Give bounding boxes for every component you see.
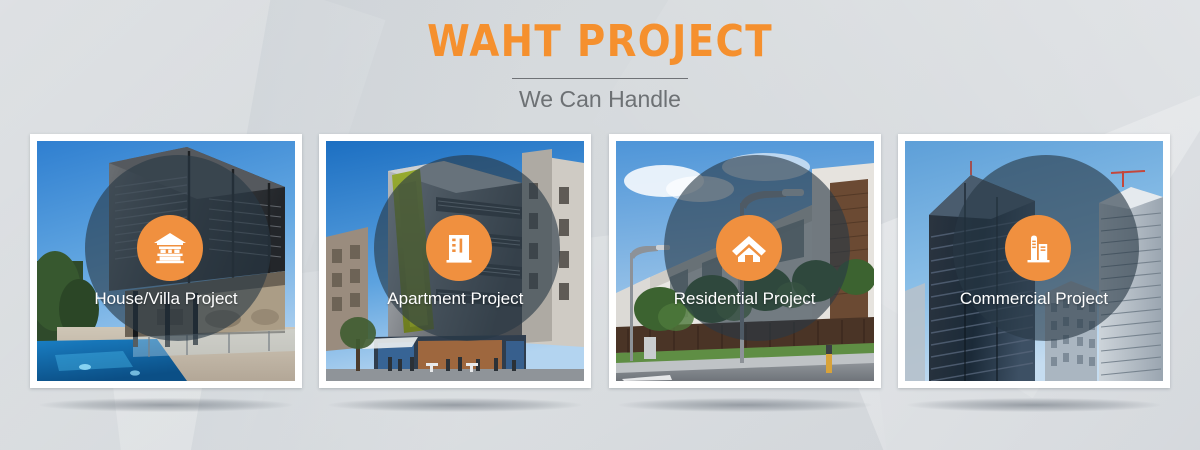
home-icon[interactable] [716, 215, 782, 281]
project-card-list: House/Villa Project [30, 134, 1170, 390]
card-shadow [618, 398, 871, 412]
card-label: Commercial Project [905, 288, 1163, 310]
page-title: WAHT PROJECT [72, 18, 1128, 66]
projects-banner: WAHT PROJECT We Can Handle [0, 0, 1200, 450]
card-media: Commercial Project [905, 141, 1163, 381]
villa-icon[interactable] [137, 215, 203, 281]
card-media: Residential Project [616, 141, 874, 381]
project-card-house-villa[interactable]: House/Villa Project [30, 134, 302, 388]
project-card-residential[interactable]: Residential Project [609, 134, 881, 388]
project-card-apartment[interactable]: Apartment Project [319, 134, 591, 388]
title-divider [512, 78, 688, 79]
section-header: WAHT PROJECT We Can Handle [0, 0, 1200, 113]
page-subtitle: We Can Handle [0, 85, 1200, 113]
skyscraper-icon[interactable] [1005, 215, 1071, 281]
card-shadow [329, 398, 582, 412]
card-media: House/Villa Project [37, 141, 295, 381]
card-shadow [40, 398, 293, 412]
card-label: Residential Project [616, 288, 874, 310]
card-label: Apartment Project [326, 288, 584, 310]
project-card-commercial[interactable]: Commercial Project [898, 134, 1170, 388]
card-media: Apartment Project [326, 141, 584, 381]
card-shadow [908, 398, 1161, 412]
card-shadows [30, 398, 1170, 420]
card-label: House/Villa Project [37, 288, 295, 310]
apartment-building-icon[interactable] [426, 215, 492, 281]
